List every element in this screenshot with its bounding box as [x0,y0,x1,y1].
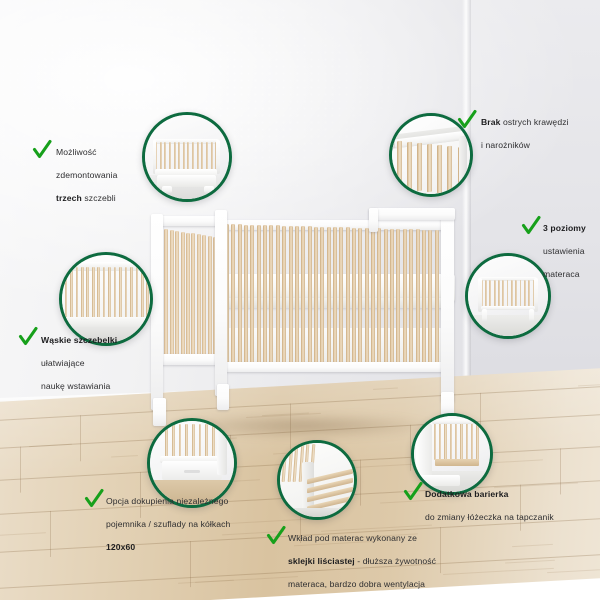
thumb-crib-side-view [465,253,551,339]
thumb-part [476,422,478,460]
thumb-part [498,280,500,307]
line-1: Brak ostrych krawędzi [481,117,597,128]
thumb-part [434,422,436,460]
thumb-part [192,424,195,459]
check-icon [457,108,477,130]
crib-part [333,227,337,370]
crib-part [301,226,305,370]
floor-plank-seam [20,447,21,493]
line-1: Możliwość [56,147,148,158]
thumb-part [481,306,535,310]
check-icon [18,325,38,347]
thumb-part [125,267,128,322]
line-1: Dodatkowa barierka [425,489,599,500]
crib-part [276,225,280,369]
crib-part [257,225,261,369]
thumb-part [407,142,412,191]
thumb-part [172,424,175,459]
crib-part [263,225,267,369]
line-1: Wąskie szczebelki [41,335,159,346]
floor-grain [505,560,555,564]
crib-part [295,226,299,370]
thumb-part [153,139,219,144]
crib-part [191,233,195,359]
line-3-tail: szczebli [82,193,116,203]
crib-part [215,210,227,396]
line-1: Wkład pod materac wykonany ze [288,533,466,544]
crib-part [186,233,190,359]
thumb-part [76,267,79,322]
line-1-bold: 3 poziomy [543,223,586,233]
thumb-part [468,315,548,336]
thumb-part [179,424,182,459]
thumb-part [114,267,117,322]
thumb-part [529,309,534,322]
line-3-bold: 120x60 [106,542,135,552]
thumb-part [466,422,468,460]
crib-part [377,228,381,370]
thumb-part [201,142,203,172]
crib-part [320,227,324,370]
crib-part [390,229,394,371]
crib-part [208,236,212,360]
thumb-part [444,422,446,460]
thumb-part [397,141,402,190]
callout-text: Dodatkowa barierka do zmiany łóżeczka na… [425,478,599,535]
thumb-part [65,267,68,322]
floor-grain [178,579,234,583]
thumb-part [165,424,168,459]
thumb-part [511,280,513,307]
thumb-part [471,422,473,460]
thumb-part [160,142,162,172]
thumb-part [450,422,452,460]
thumb-part [482,309,487,322]
crib-part [403,229,407,371]
thumb-part [528,280,530,307]
thumb-part [485,280,487,307]
thumb-part [432,419,481,424]
thumb-part [185,424,188,459]
thumb-part [427,143,432,192]
thumb-part [136,267,139,322]
thumb-part [439,422,441,460]
floor-grain [111,455,139,458]
thumb-part [92,267,95,322]
thumb-part [212,424,215,459]
product-infographic: Możliwość zdemontowania trzech szczebli … [0,0,600,600]
crib-part [164,229,168,357]
crib-part [197,234,201,359]
thumb-part [217,428,227,475]
crib-part [369,208,455,220]
callout-text: Brak ostrych krawędzi i narożników [481,106,597,163]
crib-part [352,228,356,371]
crib-part [416,229,420,370]
thumb-part [178,142,180,172]
thumb-part [141,267,144,322]
crib-part [202,235,206,360]
crib-part [308,226,312,369]
floor-grain [0,532,46,537]
thumb-part [204,186,214,194]
thumb-crib-with-drawer [142,112,232,202]
thumb-part [455,422,457,460]
crib-part [250,225,254,370]
line-3: naukę wstawiania [41,381,159,392]
thumb-part [205,424,208,459]
crib-part [289,226,293,370]
crib-part [358,228,362,370]
line-2: ułatwiające [41,358,159,369]
crib-part [441,216,454,402]
check-icon [84,487,104,509]
line-3: trzech szczebli [56,193,148,204]
line-1-tail: ostrych krawędzi [501,117,569,127]
thumb-part [524,280,526,307]
thumb-part [280,508,354,517]
check-icon [521,214,541,236]
thumb-part [192,142,194,172]
thumb-part [437,144,442,193]
crib-part [409,229,413,371]
crib-part [175,231,179,358]
line-2: ustawienia [543,246,600,257]
floor-grain [547,568,600,574]
thumb-part [211,142,213,172]
crib-part [369,208,378,232]
crib-part [346,227,350,370]
line-2-bold: sklejki liściastej [288,556,355,566]
crib-part [435,230,439,371]
crib-part [244,225,248,370]
crib-part [396,229,400,371]
crib-part [155,354,223,365]
thumb-part [416,424,433,477]
thumb-part [86,267,89,322]
crib-product-image [143,202,458,424]
line-1: Opcja dokupienia niezależnego [106,496,270,507]
thumb-part [502,280,504,307]
line-3: materaca [543,269,600,280]
callout-text: Wąskie szczebelki ułatwiające naukę wsta… [41,324,159,404]
line-3: 120x60 [106,542,270,553]
line-1: 3 poziomy [543,223,600,234]
check-icon [266,524,286,546]
crib-part [384,229,388,371]
line-2: pojemnika / szuflady na kółkach [106,519,270,530]
thumb-part [435,459,479,467]
thumb-part [447,145,452,194]
thumb-part [108,267,111,322]
line-1-bold: Brak [481,117,501,127]
thumb-plywood-base-slats [277,440,357,520]
line-3-bold: trzech [56,193,82,203]
thumb-part [184,470,201,473]
thumb-part [162,186,172,194]
crib-part [238,224,242,369]
crib-part [217,384,229,410]
crib-part [428,230,432,371]
callout-text: 3 poziomy ustawienia materaca [543,212,600,292]
crib-part [339,227,343,370]
thumb-part [169,142,171,172]
thumb-part [97,267,100,322]
thumb-part [70,267,73,322]
floor-plank-seam [50,511,51,557]
callout-text: Opcja dokupienia niezależnego pojemnika … [106,485,270,565]
thumb-part [197,142,199,172]
crib-part [327,227,331,370]
thumb-part [146,267,149,322]
thumb-part [183,142,185,172]
crib-part [170,230,174,357]
line-2: i narożników [481,140,597,151]
line-1-bold: Wąskie szczebelki [41,335,117,345]
check-icon [32,138,52,160]
thumb-part [417,143,422,192]
thumb-part [459,136,467,185]
crib-part [269,225,273,369]
thumb-part [489,280,491,307]
crib-part [371,228,375,370]
crib-part [231,224,235,369]
line-2: do zmiany łóżeczka na tapczanik [425,512,599,523]
thumb-part [515,280,517,307]
line-1-bold: Dodatkowa barierka [425,489,508,499]
thumb-part [460,422,462,460]
crib-part [155,216,223,226]
crib-part [314,227,318,370]
floor-plank-seam [80,415,81,461]
line-2: zdemontowania [56,170,148,181]
crib-part [422,230,426,371]
callout-text: Możliwość zdemontowania trzech szczebli [56,136,148,216]
floor-grain [195,576,298,583]
crib-part [181,232,185,358]
line-2: sklejki liściastej - dłuższa żywotność [288,556,466,567]
crib-part [221,362,449,372]
thumb-part [119,267,122,322]
thumb-part [81,267,84,322]
line-2-tail: - dłuższa żywotność [355,556,436,566]
thumb-part [199,424,202,459]
line-3: materaca, bardzo dobra wentylacja [288,579,466,590]
floor-grain [512,544,553,547]
crib-part [365,228,369,370]
thumb-part [494,280,496,307]
crib-part [282,226,286,370]
check-icon [403,480,423,502]
thumb-part [130,267,133,322]
thumb-part [174,142,176,172]
floor-grain [29,443,72,446]
thumb-part [206,142,208,172]
